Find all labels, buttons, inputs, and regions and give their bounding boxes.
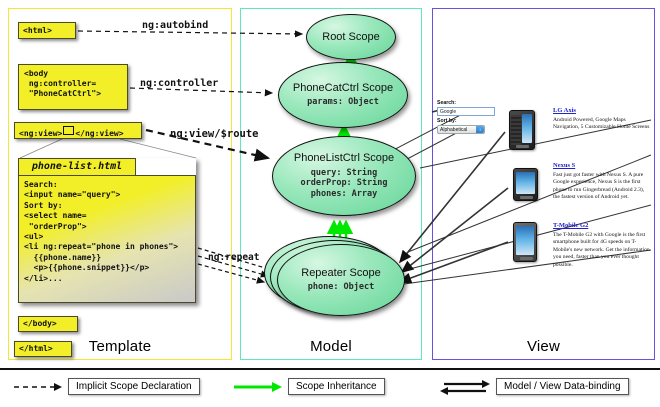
legend-label: Scope Inheritance	[288, 378, 385, 395]
scope-root-title: Root Scope	[322, 31, 379, 43]
dashed-arrow-icon	[12, 379, 62, 395]
legend-item-implicit: Implicit Scope Declaration	[12, 378, 200, 395]
phone-button	[516, 145, 529, 148]
scope-phonecatctrl-props: params: Object	[307, 97, 379, 108]
phone-name-link[interactable]: Nexus S	[553, 162, 651, 169]
column-label-view: View	[433, 338, 654, 355]
phone-thumbnail-t-mobile-g2	[513, 222, 537, 262]
code-box-body-close: </body>	[18, 316, 78, 332]
legend-item-inheritance: Scope Inheritance	[232, 378, 385, 395]
diagram-stage: Template Model View	[0, 0, 660, 405]
green-arrow-icon	[232, 379, 282, 395]
scope-phonecatctrl: PhoneCatCtrl Scope params: Object	[278, 62, 408, 128]
phone-button	[520, 257, 533, 260]
edge-label-autobind: ng:autobind	[142, 20, 208, 31]
scope-root: Root Scope	[306, 14, 396, 60]
ngview-close-tag: </ng:view>	[75, 129, 123, 138]
phone-thumbnail-nexus-s	[513, 168, 538, 201]
callout-code: Search: <input name="query"> Sort by: <s…	[18, 175, 196, 303]
legend-item-databinding: Model / View Data-binding	[440, 378, 629, 395]
phone-screen	[516, 172, 535, 194]
view-search-form: Search: Google Sort by: Alphabetical ↕	[437, 100, 499, 134]
phone-screen	[522, 114, 532, 143]
scope-repeater-props: phone: Object	[308, 282, 375, 293]
scope-phonelistctrl-title: PhoneListCtrl Scope	[294, 152, 394, 164]
phone-name-link[interactable]: T-Mobile G2	[553, 222, 651, 229]
phone-snippet: Android Powered, Google Maps Navigation,…	[553, 117, 651, 132]
callout-filename: phone-list.html	[18, 158, 136, 176]
template-callout: phone-list.html Search: <input name="que…	[18, 158, 196, 303]
phone-list-item: T-Mobile G2 The T-Mobile G2 with Google …	[553, 222, 651, 269]
scope-repeater: Repeater Scope phone: Object	[277, 244, 405, 316]
sort-select-value: Alphabetical	[440, 127, 467, 133]
sort-label: Sort by:	[437, 118, 499, 125]
legend-label: Implicit Scope Declaration	[68, 378, 200, 395]
phone-list-item: Nexus S Fast just got faster with Nexus …	[553, 162, 651, 202]
scope-phonelistctrl: PhoneListCtrl Scope query: String orderP…	[272, 136, 416, 216]
sort-select[interactable]: Alphabetical ↕	[437, 125, 485, 134]
code-box-html-open: <html>	[18, 22, 76, 39]
ngview-placeholder-icon	[63, 126, 74, 135]
phone-screen	[516, 226, 534, 255]
chevron-updown-icon: ↕	[476, 126, 484, 133]
phone-snippet: Fast just got faster with Nexus S. A pur…	[553, 172, 651, 202]
scope-repeater-title: Repeater Scope	[301, 267, 381, 279]
phone-snippet: The T-Mobile G2 with Google is the first…	[553, 232, 651, 269]
edge-label-controller: ng:controller	[140, 78, 218, 89]
double-arrow-icon	[440, 379, 490, 395]
scope-phonecatctrl-title: PhoneCatCtrl Scope	[293, 82, 393, 94]
scope-phonelistctrl-props: query: String orderProp: String phones: …	[301, 168, 388, 200]
search-input[interactable]: Google	[437, 107, 495, 116]
phone-list-item: LG Axis Android Powered, Google Maps Nav…	[553, 107, 651, 132]
search-label: Search:	[437, 100, 499, 107]
phone-button	[520, 196, 533, 199]
column-label-model: Model	[241, 338, 421, 355]
code-box-body-open: <body ng:controller= "PhoneCatCtrl">	[18, 64, 128, 110]
phone-thumbnail-lg-axis	[509, 110, 535, 150]
legend-label: Model / View Data-binding	[496, 378, 629, 395]
edge-label-repeat: ng:repeat	[208, 252, 259, 263]
code-box-html-close: </html>	[14, 341, 72, 357]
phone-name-link[interactable]: LG Axis	[553, 107, 651, 114]
ngview-open-tag: <ng:view>	[19, 129, 62, 138]
edge-label-ngview-route: ng:view/$route	[170, 128, 259, 140]
code-box-ng-view: <ng:view></ng:view>	[14, 122, 142, 139]
legend: Implicit Scope Declaration Scope Inherit…	[0, 368, 660, 407]
